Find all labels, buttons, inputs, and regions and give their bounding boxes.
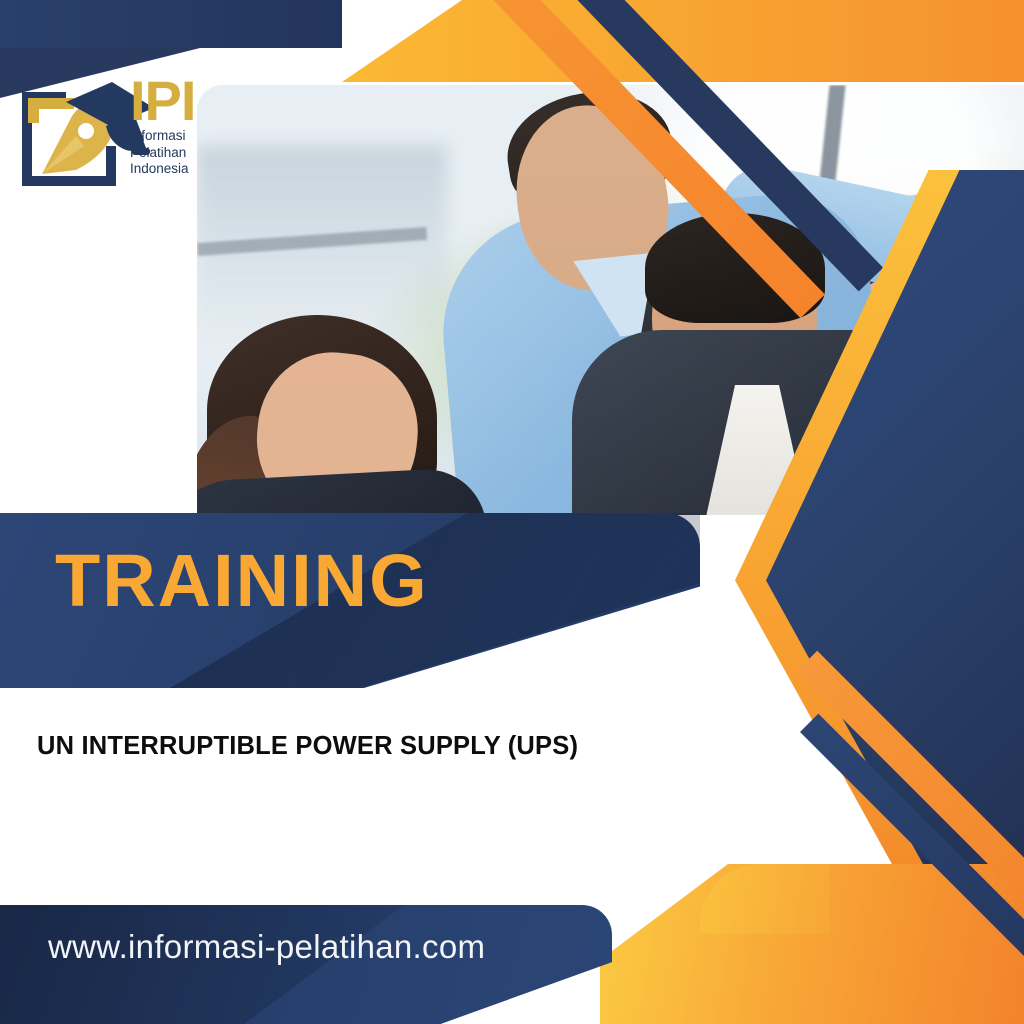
top-navy-band — [0, 0, 342, 48]
logo-acronym: IPI — [130, 76, 195, 126]
website-url[interactable]: www.informasi-pelatihan.com — [48, 928, 485, 966]
logo-tagline: Informasi Pelatihan Indonesia — [130, 128, 195, 177]
course-subtitle: UN INTERRUPTIBLE POWER SUPPLY (UPS) — [37, 732, 578, 761]
logo-tagline-line2: Pelatihan — [130, 145, 195, 161]
page-title: TRAINING — [55, 544, 429, 618]
ipi-logo-text: IPI Informasi Pelatihan Indonesia — [130, 76, 195, 178]
logo-tagline-line3: Indonesia — [130, 161, 195, 177]
poster-canvas: TRAINING UN INTERRUPTIBLE POWER SUPPLY (… — [0, 0, 1024, 1024]
